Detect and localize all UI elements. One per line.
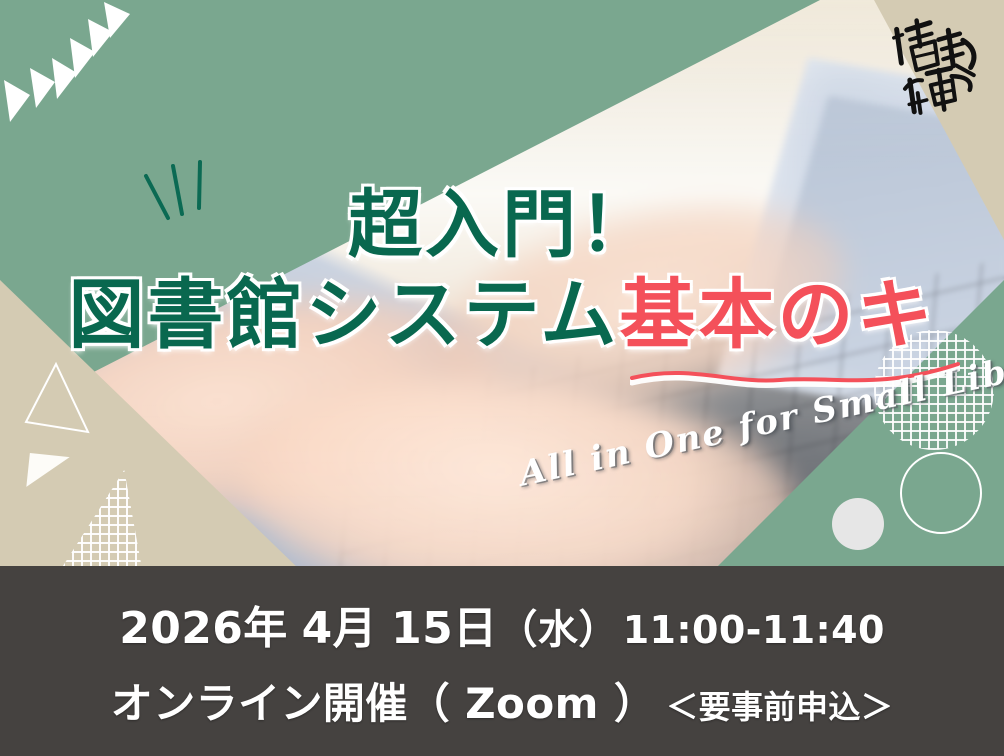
event-month: 4月 bbox=[302, 592, 377, 656]
event-venue: オンライン開催（ Zoom ） bbox=[111, 670, 656, 731]
event-day: 15日 bbox=[391, 592, 497, 656]
circle-outline-icon bbox=[900, 452, 982, 534]
event-registration-note: ＜要事前申込＞ bbox=[666, 682, 893, 728]
event-venue-line: オンライン開催（ Zoom ） ＜要事前申込＞ bbox=[111, 670, 893, 731]
jouhoukan-logo-icon bbox=[892, 10, 984, 120]
footer-info-bar: 2026年 4月 15日 （水） 11:00-11:40 オンライン開催（ Zo… bbox=[0, 566, 1004, 756]
event-time: 11:00-11:40 bbox=[623, 608, 885, 652]
event-weekday: （水） bbox=[498, 597, 619, 655]
triangle-outline-icon bbox=[22, 360, 94, 440]
event-date-line: 2026年 4月 15日 （水） 11:00-11:40 bbox=[119, 592, 885, 656]
event-flyer: 超入門！ 図書館システム基本のキ All in One for Small Li… bbox=[0, 0, 1004, 756]
event-year: 2026年 bbox=[119, 592, 287, 656]
circle-solid-icon bbox=[832, 498, 884, 550]
triangle-solid-icon bbox=[26, 453, 69, 491]
accent-strokes-icon bbox=[140, 158, 220, 222]
jouhoukan-logo bbox=[892, 10, 984, 120]
